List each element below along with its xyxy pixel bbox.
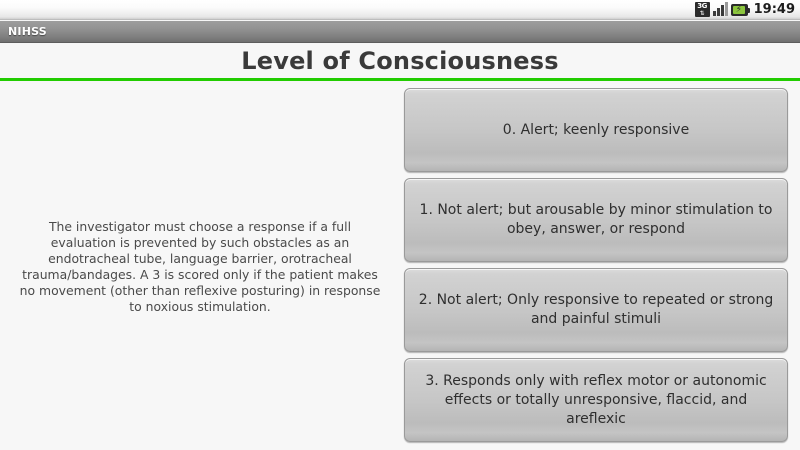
- app-title-bar: NIHSS: [0, 21, 800, 43]
- signal-bar-1: [713, 11, 716, 16]
- answer-option-3[interactable]: 3. Responds only with reflex motor or au…: [404, 358, 788, 442]
- battery-cap: [748, 8, 750, 13]
- status-bar-icons: 3G ⇅ ⚡ 19:49: [695, 2, 800, 17]
- answer-option-0[interactable]: 0. Alert; keenly responsive: [404, 88, 788, 172]
- status-bar-clock: 19:49: [751, 2, 795, 17]
- app-name-label: NIHSS: [0, 25, 47, 38]
- 3g-signal-icon: 3G ⇅: [695, 2, 710, 17]
- signal-bars-icon: [713, 2, 728, 17]
- answer-options-list: 0. Alert; keenly responsive 1. Not alert…: [400, 84, 800, 450]
- answer-option-2[interactable]: 2. Not alert; Only responsive to repeate…: [404, 268, 788, 352]
- answer-option-1[interactable]: 1. Not alert; but arousable by minor sti…: [404, 178, 788, 262]
- instruction-text: The investigator must choose a response …: [8, 219, 392, 315]
- page-title: Level of Consciousness: [241, 47, 558, 75]
- main-content: The investigator must choose a response …: [0, 84, 800, 450]
- signal-bar-2: [717, 8, 720, 16]
- battery-charging-icon: ⚡: [731, 4, 748, 16]
- description-pane: The investigator must choose a response …: [0, 84, 400, 450]
- data-transfer-arrows-icon: ⇅: [695, 11, 710, 17]
- signal-bar-4: [725, 2, 728, 16]
- signal-bar-3: [721, 5, 724, 16]
- charging-bolt-icon: ⚡: [736, 5, 742, 15]
- page-header: Level of Consciousness: [0, 44, 800, 81]
- android-status-bar: 3G ⇅ ⚡ 19:49: [0, 0, 800, 20]
